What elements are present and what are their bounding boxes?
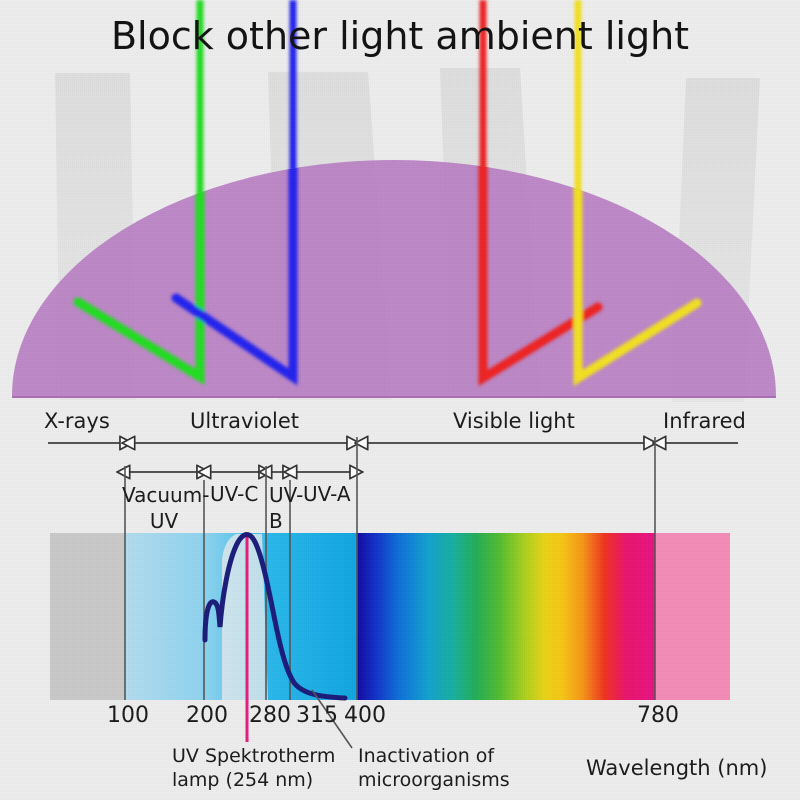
annotation-lamp-line2: lamp (254 nm): [172, 769, 313, 791]
annotation-inactivation-line2: microorganisms: [358, 769, 510, 791]
band-label-uv-a: UV-A: [303, 482, 351, 506]
axis-unit-label: Wavelength (nm): [586, 756, 767, 780]
axis-tick-100: 100: [107, 703, 149, 728]
axis-tick-400: 400: [344, 703, 386, 728]
band-label-vacuum-uv: Vacuum- UV: [122, 482, 206, 534]
band-label-uv-c: UV-C: [210, 482, 258, 506]
annotation-inactivation-line1: Inactivation of: [358, 745, 494, 767]
band-label-visible-light: Visible light: [453, 409, 575, 433]
annotation-lamp-line1: UV Spektrotherm: [172, 745, 335, 767]
axis-tick-280: 280: [249, 703, 291, 728]
axis-tick-315: 315: [296, 703, 338, 728]
band-label-infrared: Infrared: [663, 409, 746, 433]
axis-tick-200: 200: [186, 703, 228, 728]
labels-layer: Block other light ambient light X-rays U…: [0, 0, 800, 800]
band-label-uv-b: UV- B: [269, 482, 303, 534]
band-label-ultraviolet: Ultraviolet: [190, 409, 299, 433]
page-title: Block other light ambient light: [0, 14, 800, 58]
band-label-xrays: X-rays: [44, 409, 110, 433]
illustration-stage: Block other light ambient light X-rays U…: [0, 0, 800, 800]
axis-tick-780: 780: [637, 703, 679, 728]
